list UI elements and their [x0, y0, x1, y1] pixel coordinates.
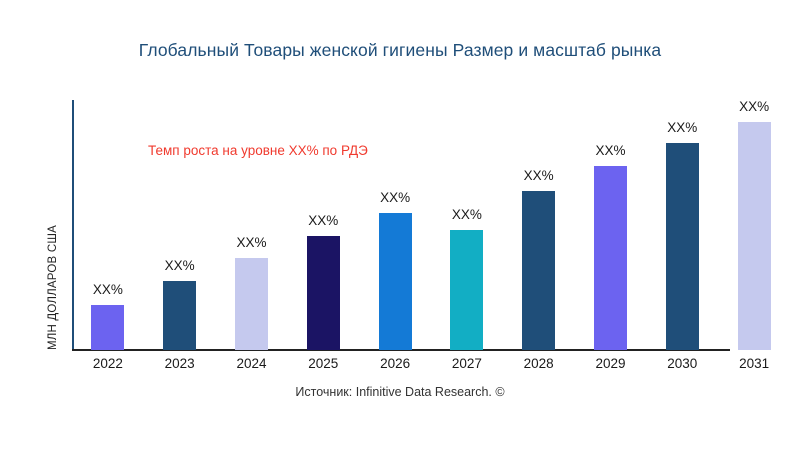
bar-2023[interactable]: [163, 281, 196, 350]
bar-2031[interactable]: [738, 122, 771, 350]
bar-2028[interactable]: [522, 191, 555, 350]
bar-2027[interactable]: [450, 230, 483, 350]
bar-value-label-2023: XX%: [140, 258, 220, 273]
bar-value-label-2022: XX%: [68, 282, 148, 297]
bar-value-label-2027: XX%: [427, 207, 507, 222]
bar-value-label-2025: XX%: [283, 213, 363, 228]
bar-2022[interactable]: [91, 305, 124, 350]
bar-value-label-2029: XX%: [571, 143, 651, 158]
bar-value-label-2028: XX%: [499, 168, 579, 183]
x-tick-2030: 2030: [642, 356, 722, 371]
plot-area: XX%XX%XX%XX%XX%XX%XX%XX%XX%XX% 202220232…: [0, 0, 800, 450]
x-tick-2024: 2024: [212, 356, 292, 371]
x-tick-2029: 2029: [571, 356, 651, 371]
bar-2024[interactable]: [235, 258, 268, 350]
bar-value-label-2030: XX%: [642, 120, 722, 135]
x-tick-2022: 2022: [68, 356, 148, 371]
bar-2026[interactable]: [379, 213, 412, 350]
chart-figure: Глобальный Товары женской гигиены Размер…: [0, 0, 800, 450]
x-tick-2025: 2025: [283, 356, 363, 371]
x-tick-2028: 2028: [499, 356, 579, 371]
growth-rate-note: Темп роста на уровне XX% по РДЭ: [148, 143, 368, 158]
x-tick-2027: 2027: [427, 356, 507, 371]
x-tick-2031: 2031: [714, 356, 794, 371]
bar-2030[interactable]: [666, 143, 699, 350]
bar-value-label-2026: XX%: [355, 190, 435, 205]
x-tick-2023: 2023: [140, 356, 220, 371]
x-tick-2026: 2026: [355, 356, 435, 371]
bar-value-label-2031: XX%: [714, 99, 794, 114]
bar-2029[interactable]: [594, 166, 627, 350]
bar-value-label-2024: XX%: [212, 235, 292, 250]
y-axis-line: [72, 100, 74, 350]
source-note: Источник: Infinitive Data Research. ©: [0, 385, 800, 399]
bar-2025[interactable]: [307, 236, 340, 350]
